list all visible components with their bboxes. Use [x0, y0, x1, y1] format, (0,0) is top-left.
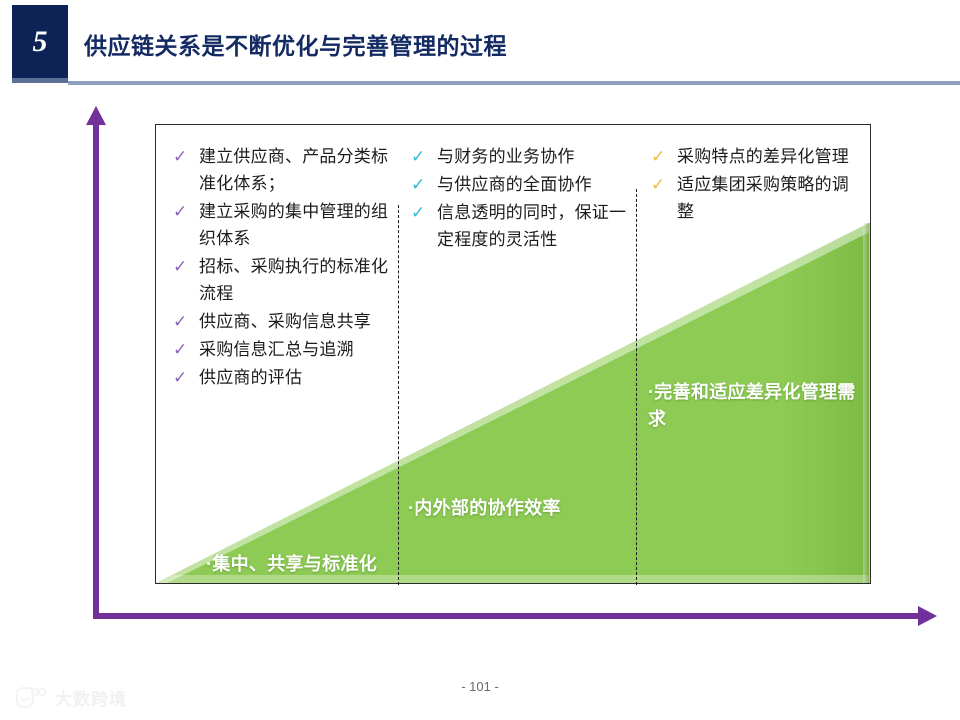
check-icon: ✓	[170, 253, 199, 280]
list-item-label: 供应商的评估	[199, 364, 392, 391]
stage-2-summary: ·内外部的协作效率	[408, 495, 638, 522]
triangle-right-edge	[863, 223, 870, 583]
stage-2-list: ✓ 与财务的业务协作 ✓ 与供应商的全面协作 ✓ 信息透明的同时，保证一定程度的…	[408, 143, 632, 254]
stage-1-list: ✓ 建立供应商、产品分类标准化体系； ✓ 建立采购的集中管理的组织体系 ✓ 招标…	[170, 143, 392, 392]
list-item-label: 采购信息汇总与追溯	[199, 336, 392, 363]
list-item-label: 建立供应商、产品分类标准化体系；	[199, 143, 392, 197]
list-item-label: 供应商、采购信息共享	[199, 308, 392, 335]
slide-number-text: 5	[12, 27, 68, 57]
check-icon: ✓	[170, 364, 199, 391]
page-number: - 101 -	[0, 679, 960, 694]
list-item: ✓ 采购信息汇总与追溯	[170, 336, 392, 363]
page-title: 供应链关系是不断优化与完善管理的过程	[84, 27, 507, 61]
list-item: ✓ 建立采购的集中管理的组织体系	[170, 198, 392, 252]
brand-logo-icon	[14, 687, 48, 709]
check-icon: ✓	[170, 308, 199, 335]
check-icon: ✓	[408, 171, 437, 198]
list-item-label: 与财务的业务协作	[437, 143, 632, 170]
header-rule-accent	[12, 78, 68, 83]
arrow-right-icon	[918, 606, 937, 626]
check-icon: ✓	[170, 198, 199, 225]
stage-1-summary: ·集中、共享与标准化	[206, 551, 436, 578]
check-icon: ✓	[648, 143, 677, 170]
check-icon: ✓	[408, 143, 437, 170]
vertical-axis	[93, 122, 99, 618]
list-item: ✓ 适应集团采购策略的调整	[648, 171, 862, 225]
list-item-label: 信息透明的同时，保证一定程度的灵活性	[437, 199, 632, 253]
list-item: ✓ 建立供应商、产品分类标准化体系；	[170, 143, 392, 197]
list-item: ✓ 供应商的评估	[170, 364, 392, 391]
column-divider-1	[398, 205, 399, 585]
list-item: ✓ 与财务的业务协作	[408, 143, 632, 170]
check-icon: ✓	[170, 143, 199, 170]
watermark-label: 大数跨境	[55, 685, 127, 710]
stage-3-list: ✓ 采购特点的差异化管理 ✓ 适应集团采购策略的调整	[648, 143, 862, 226]
content-panel: ✓ 建立供应商、产品分类标准化体系； ✓ 建立采购的集中管理的组织体系 ✓ 招标…	[155, 124, 871, 584]
list-item-label: 与供应商的全面协作	[437, 171, 632, 198]
check-icon: ✓	[408, 199, 437, 226]
list-item-label: 建立采购的集中管理的组织体系	[199, 198, 392, 252]
watermark: 大数跨境	[14, 685, 127, 710]
list-item: ✓ 与供应商的全面协作	[408, 171, 632, 198]
slide-number-badge: 5	[12, 5, 68, 78]
list-item-label: 适应集团采购策略的调整	[677, 171, 862, 225]
list-item-label: 采购特点的差异化管理	[677, 143, 862, 170]
list-item: ✓ 采购特点的差异化管理	[648, 143, 862, 170]
list-item: ✓ 招标、采购执行的标准化流程	[170, 253, 392, 307]
list-item: ✓ 供应商、采购信息共享	[170, 308, 392, 335]
check-icon: ✓	[170, 336, 199, 363]
check-icon: ✓	[648, 171, 677, 198]
slide-canvas: 5 供应链关系是不断优化与完善管理的过程 ✓ 建立供应商、产品分类标准化体系； …	[0, 0, 960, 720]
header-rule	[68, 81, 960, 85]
stage-3-summary: ·完善和适应差异化管理需求	[648, 379, 864, 433]
horizontal-axis	[93, 613, 920, 619]
column-divider-2	[636, 189, 637, 585]
list-item-label: 招标、采购执行的标准化流程	[199, 253, 392, 307]
list-item: ✓ 信息透明的同时，保证一定程度的灵活性	[408, 199, 632, 253]
